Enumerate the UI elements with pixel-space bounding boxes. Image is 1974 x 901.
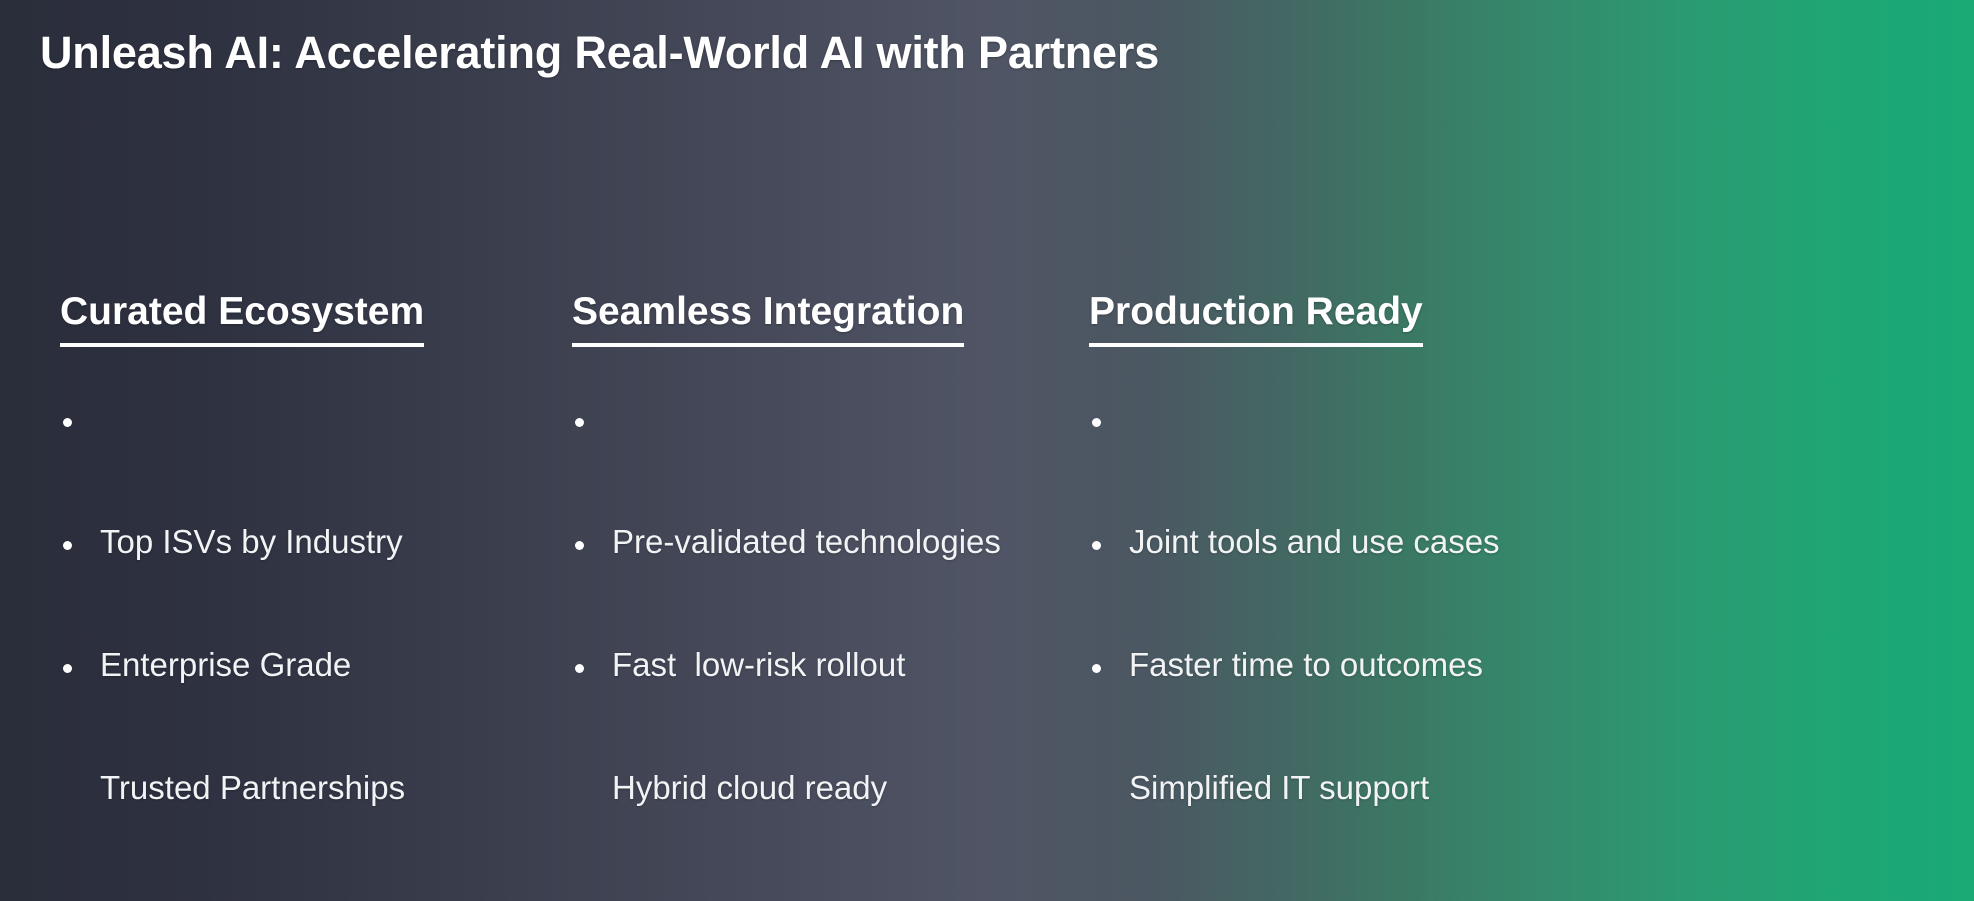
list-item: Simplified IT support: [1089, 648, 1609, 771]
column-production-ready: Production Ready Joint tools and use cas…: [1089, 290, 1609, 771]
list-item: Faster time to outcomes: [1089, 525, 1609, 648]
bullet-label: Hybrid cloud ready: [612, 768, 1092, 808]
bullet-dot-icon: [575, 541, 584, 550]
bullet-list: Top ISVs by Industry Enterprise Grade Tr…: [60, 402, 560, 771]
bullet-dot-icon: [63, 418, 72, 427]
bullet-dot-icon: [1092, 664, 1101, 673]
column-curated-ecosystem: Curated Ecosystem Top ISVs by Industry E…: [60, 290, 560, 771]
bullet-list: Joint tools and use cases Faster time to…: [1089, 402, 1609, 771]
bullet-dot-icon: [1092, 418, 1101, 427]
slide-canvas: Unleash AI: Accelerating Real-World AI w…: [0, 0, 1974, 901]
bullet-dot-icon: [575, 664, 584, 673]
list-item: Pre-validated technologies: [572, 402, 1092, 525]
column-heading: Production Ready: [1089, 290, 1423, 347]
column-heading: Seamless Integration: [572, 290, 964, 347]
list-item: Trusted Partnerships: [60, 648, 560, 771]
bullet-dot-icon: [63, 541, 72, 550]
list-item: Fast low-risk rollout: [572, 525, 1092, 648]
column-seamless-integration: Seamless Integration Pre-validated techn…: [572, 290, 1092, 771]
list-item: Hybrid cloud ready: [572, 648, 1092, 771]
column-heading: Curated Ecosystem: [60, 290, 424, 347]
bullet-dot-icon: [63, 664, 72, 673]
bullet-label: Trusted Partnerships: [100, 768, 560, 808]
bullet-label: Simplified IT support: [1129, 768, 1609, 808]
columns-container: Curated Ecosystem Top ISVs by Industry E…: [0, 0, 1974, 901]
list-item: Top ISVs by Industry: [60, 402, 560, 525]
bullet-dot-icon: [1092, 541, 1101, 550]
bullet-dot-icon: [575, 418, 584, 427]
list-item: Enterprise Grade: [60, 525, 560, 648]
bullet-list: Pre-validated technologies Fast low-risk…: [572, 402, 1092, 771]
list-item: Joint tools and use cases: [1089, 402, 1609, 525]
